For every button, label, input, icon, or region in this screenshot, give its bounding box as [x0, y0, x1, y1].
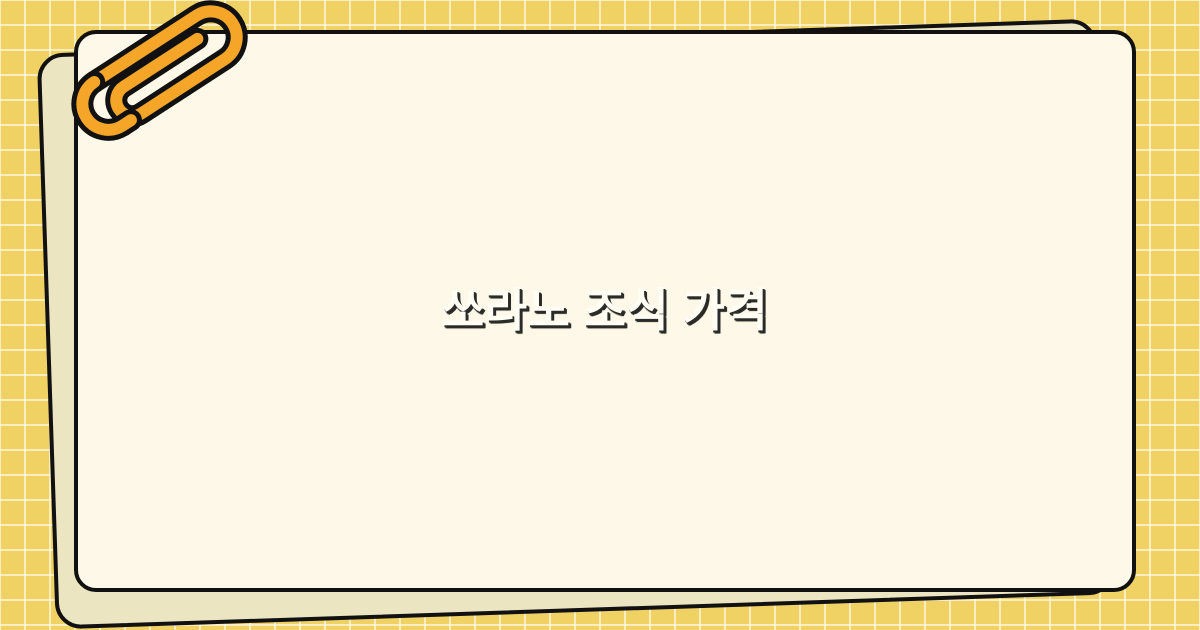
note-card-content: 쏘라노 조식 가격 [78, 282, 1132, 340]
page-title: 쏘라노 조식 가격 [148, 282, 1062, 340]
poster-stage: 쏘라노 조식 가격 [0, 0, 1200, 630]
paperclip-icon[interactable] [66, 0, 266, 134]
paperclip-glyph [66, 0, 266, 134]
